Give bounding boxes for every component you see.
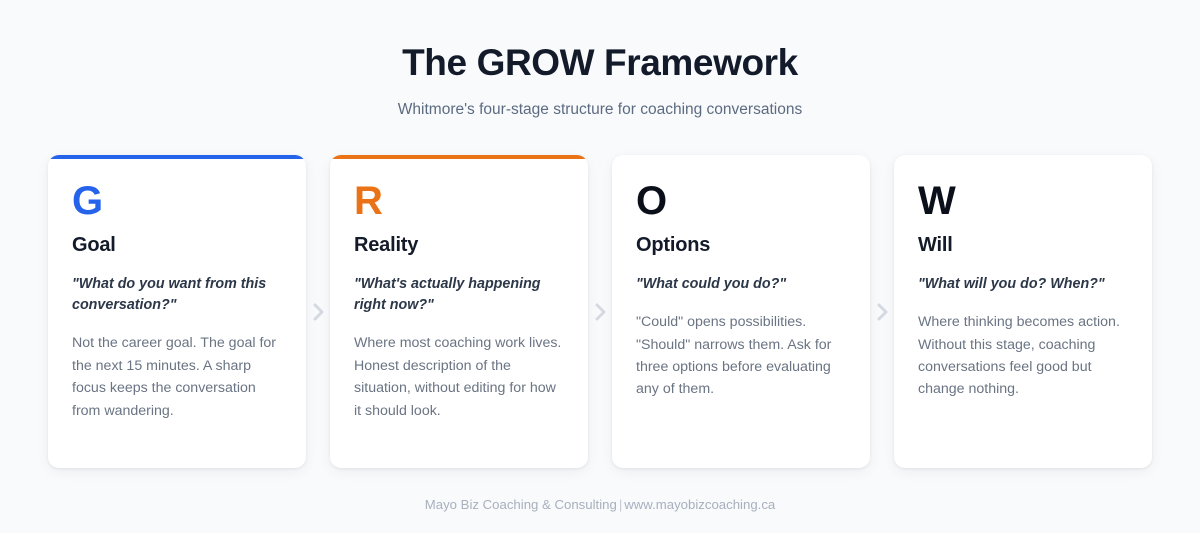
framework-card-will[interactable]: WWill"What will you do? When?"Where thin… — [894, 155, 1152, 468]
card-description: Not the career goal. The goal for the ne… — [72, 332, 282, 422]
card-accent-bar — [612, 155, 870, 159]
card-letter: G — [72, 181, 282, 225]
framework-cards-row: GGoal"What do you want from this convers… — [48, 155, 1152, 468]
chevron-right-icon — [870, 155, 894, 468]
card-stage-name: Options — [636, 233, 846, 257]
card-key-question: "What will you do? When?" — [918, 274, 1128, 295]
page-header: The GROW Framework Whitmore's four-stage… — [0, 0, 1200, 120]
card-letter: W — [918, 181, 1128, 225]
framework-card-options[interactable]: OOptions"What could you do?""Could" open… — [612, 155, 870, 468]
card-stage-name: Goal — [72, 233, 282, 257]
grow-framework-page: The GROW Framework Whitmore's four-stage… — [0, 0, 1200, 533]
card-description: "Could" opens possibilities. "Should" na… — [636, 311, 846, 401]
card-description: Where thinking becomes action. Without t… — [918, 311, 1128, 401]
card-stage-name: Reality — [354, 233, 564, 257]
footer-organization: Mayo Biz Coaching & Consulting — [425, 497, 617, 512]
card-stage-name: Will — [918, 233, 1128, 257]
footer-website: www.mayobizcoaching.ca — [624, 497, 775, 512]
page-footer: Mayo Biz Coaching & Consulting|www.mayob… — [0, 496, 1200, 513]
card-key-question: "What do you want from this conversation… — [72, 274, 282, 316]
card-accent-bar — [48, 155, 306, 159]
card-accent-bar — [894, 155, 1152, 159]
framework-card-reality[interactable]: RReality"What's actually happening right… — [330, 155, 588, 468]
card-key-question: "What's actually happening right now?" — [354, 274, 564, 316]
framework-card-goal[interactable]: GGoal"What do you want from this convers… — [48, 155, 306, 468]
card-key-question: "What could you do?" — [636, 274, 846, 295]
page-title: The GROW Framework — [0, 42, 1200, 85]
card-description: Where most coaching work lives. Honest d… — [354, 332, 564, 422]
card-accent-bar — [330, 155, 588, 159]
chevron-right-icon — [588, 155, 612, 468]
page-subtitle: Whitmore's four-stage structure for coac… — [0, 100, 1200, 120]
card-letter: O — [636, 181, 846, 225]
card-letter: R — [354, 181, 564, 225]
chevron-right-icon — [306, 155, 330, 468]
